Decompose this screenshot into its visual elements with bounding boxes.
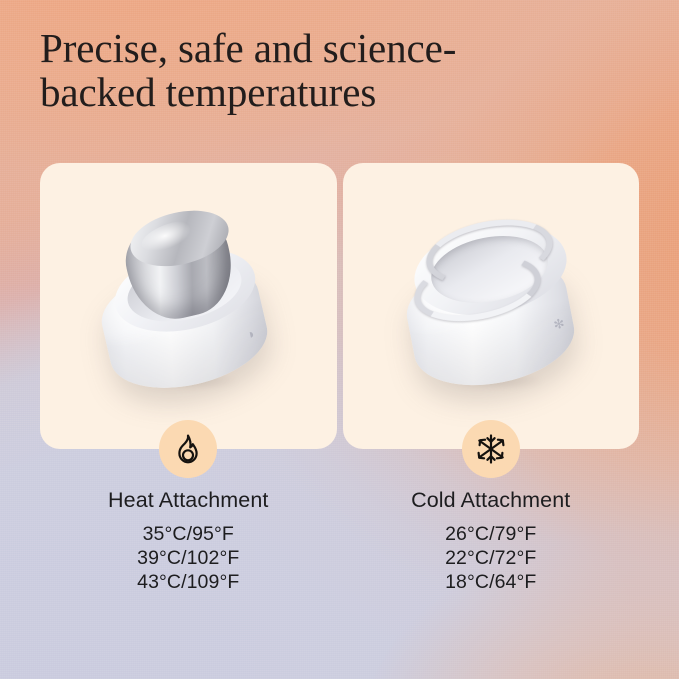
temperature-item: 35°C/95°F — [40, 522, 337, 546]
heat-attachment-product-image: ◗ — [81, 199, 296, 404]
cold-attachment-product-image: ✻ — [383, 199, 598, 404]
temperature-item: 39°C/102°F — [40, 546, 337, 570]
cold-temperature-list: 26°C/79°F 22°C/72°F 18°C/64°F — [343, 522, 640, 594]
flame-icon — [174, 434, 202, 464]
cold-attachment-card[interactable]: ✻ — [343, 163, 640, 449]
heat-badge — [159, 420, 217, 478]
heat-attachment-card[interactable]: ◗ — [40, 163, 337, 449]
cold-caption-title: Cold Attachment — [343, 488, 640, 513]
heat-caption: Heat Attachment 35°C/95°F 39°C/102°F 43°… — [40, 488, 337, 594]
cold-caption: Cold Attachment 26°C/79°F 22°C/72°F 18°C… — [343, 488, 640, 594]
heat-caption-title: Heat Attachment — [40, 488, 337, 513]
caption-row: Heat Attachment 35°C/95°F 39°C/102°F 43°… — [40, 488, 639, 594]
temperature-item: 18°C/64°F — [343, 570, 640, 594]
promo-graphic: Precise, safe and science- backed temper… — [0, 0, 679, 679]
temperature-item: 26°C/79°F — [343, 522, 640, 546]
temperature-item: 22°C/72°F — [343, 546, 640, 570]
attachment-card-row: ◗ ✻ — [40, 163, 639, 449]
snowflake-emboss-icon: ✻ — [552, 316, 565, 331]
page-title: Precise, safe and science- backed temper… — [40, 26, 600, 115]
snowflake-icon — [476, 433, 506, 465]
heat-temperature-list: 35°C/95°F 39°C/102°F 43°C/109°F — [40, 522, 337, 594]
temperature-item: 43°C/109°F — [40, 570, 337, 594]
cold-badge — [462, 420, 520, 478]
